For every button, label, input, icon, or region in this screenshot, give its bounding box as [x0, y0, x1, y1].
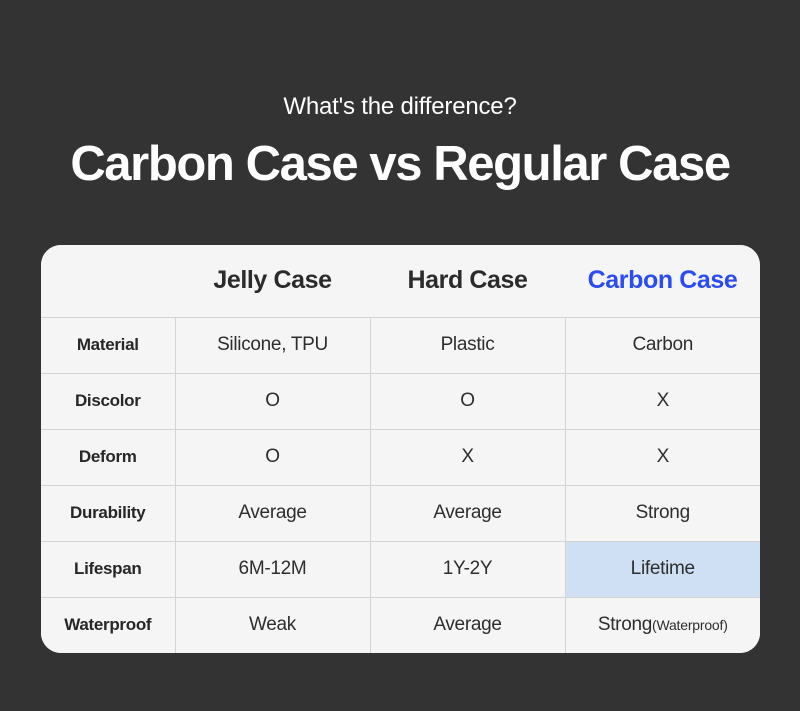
cell-value: Strong [636, 502, 690, 523]
cell-value: Carbon [632, 334, 693, 355]
header: What's the difference? Carbon Case vs Re… [0, 0, 800, 192]
cell-deform-jelly: O [175, 429, 370, 485]
comparison-table: Jelly Case Hard Case Carbon Case Materia… [41, 245, 760, 653]
row-label-waterproof: Waterproof [41, 597, 175, 653]
cell-waterproof-jelly: Weak [175, 597, 370, 653]
cell-durability-hard: Average [370, 485, 565, 541]
cell-value: X [657, 446, 669, 467]
cell-lifespan-jelly: 6M-12M [175, 541, 370, 597]
table-row: Discolor O O X [41, 373, 760, 429]
cell-lifespan-hard: 1Y-2Y [370, 541, 565, 597]
row-label-durability: Durability [41, 485, 175, 541]
table-row: Durability Average Average Strong [41, 485, 760, 541]
subtitle: What's the difference? [0, 92, 800, 122]
cell-durability-carbon: Strong [565, 485, 760, 541]
table-row: Lifespan 6M-12M 1Y-2Y Lifetime [41, 541, 760, 597]
table-row: Waterproof Weak Average Strong(Waterproo… [41, 597, 760, 653]
comparison-infographic: What's the difference? Carbon Case vs Re… [0, 0, 800, 711]
cell-lifespan-carbon-highlighted: Lifetime [565, 541, 760, 597]
row-label-lifespan: Lifespan [41, 541, 175, 597]
table-row: Deform O X X [41, 429, 760, 485]
row-label-material: Material [41, 317, 175, 373]
page-title: Carbon Case vs Regular Case [0, 136, 800, 192]
cell-discolor-carbon: X [565, 373, 760, 429]
header-cell-carbon-case: Carbon Case [565, 245, 760, 317]
cell-deform-hard: X [370, 429, 565, 485]
table-row: Material Silicone, TPU Plastic Carbon [41, 317, 760, 373]
row-label-deform: Deform [41, 429, 175, 485]
cell-value: Strong [598, 614, 652, 635]
cell-value: X [657, 390, 669, 411]
cell-material-carbon: Carbon [565, 317, 760, 373]
header-cell-hard-case: Hard Case [370, 245, 565, 317]
header-cell-blank [41, 245, 175, 317]
cell-waterproof-hard: Average [370, 597, 565, 653]
cell-durability-jelly: Average [175, 485, 370, 541]
cell-waterproof-carbon: Strong(Waterproof) [565, 597, 760, 653]
cell-material-jelly: Silicone, TPU [175, 317, 370, 373]
table-body: Material Silicone, TPU Plastic Carbon Di… [41, 317, 760, 653]
table-header-row: Jelly Case Hard Case Carbon Case [41, 245, 760, 317]
cell-note: (Waterproof) [652, 617, 728, 633]
header-cell-jelly-case: Jelly Case [175, 245, 370, 317]
cell-discolor-jelly: O [175, 373, 370, 429]
cell-deform-carbon: X [565, 429, 760, 485]
cell-value: Lifetime [631, 558, 695, 579]
row-label-discolor: Discolor [41, 373, 175, 429]
cell-material-hard: Plastic [370, 317, 565, 373]
table-header: Jelly Case Hard Case Carbon Case [41, 245, 760, 317]
cell-discolor-hard: O [370, 373, 565, 429]
comparison-table-card: Jelly Case Hard Case Carbon Case Materia… [41, 245, 760, 653]
